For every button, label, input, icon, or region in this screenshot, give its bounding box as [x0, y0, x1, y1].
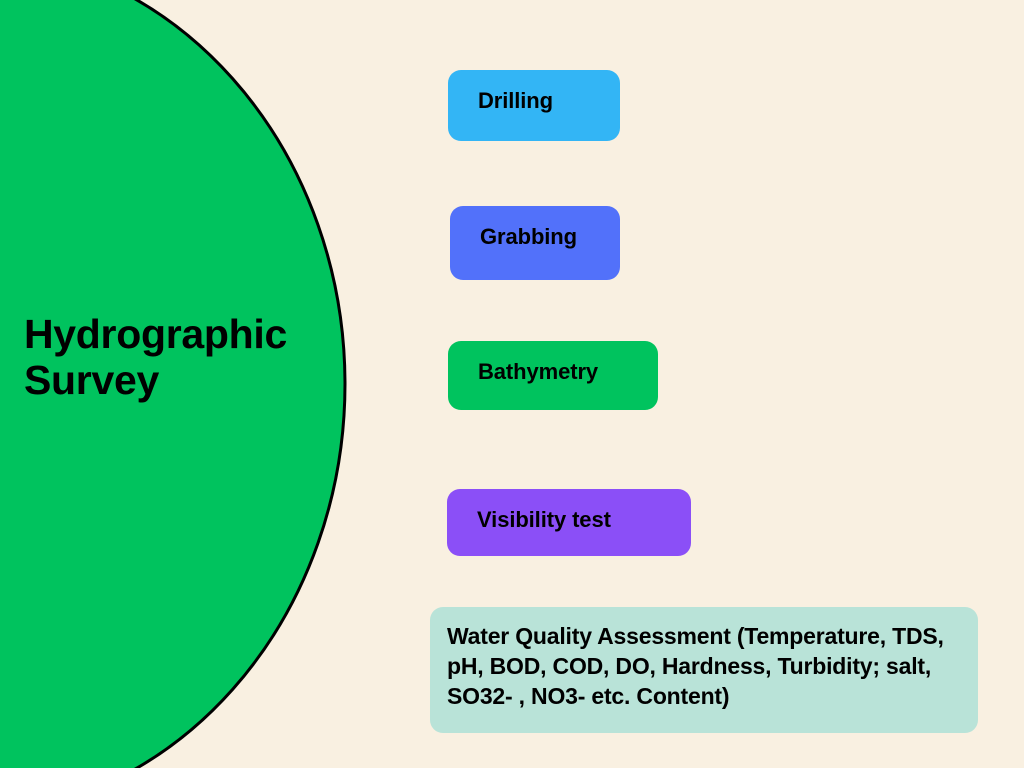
- node-water-quality-assessment-label: Water Quality Assessment (Temperature, T…: [447, 621, 968, 711]
- node-visibility-test[interactable]: Visibility test: [447, 489, 691, 556]
- node-grabbing[interactable]: Grabbing: [450, 206, 620, 280]
- node-grabbing-label: Grabbing: [480, 224, 608, 250]
- node-water-quality-assessment[interactable]: Water Quality Assessment (Temperature, T…: [430, 607, 978, 733]
- page-title: Hydrographic Survey: [24, 312, 344, 404]
- node-bathymetry[interactable]: Bathymetry: [448, 341, 658, 410]
- node-bathymetry-label: Bathymetry: [478, 359, 646, 385]
- node-drilling[interactable]: Drilling: [448, 70, 620, 141]
- node-visibility-test-label: Visibility test: [477, 507, 679, 533]
- node-drilling-label: Drilling: [478, 88, 608, 114]
- slide-canvas: Hydrographic Survey Drilling Grabbing Ba…: [0, 0, 1024, 768]
